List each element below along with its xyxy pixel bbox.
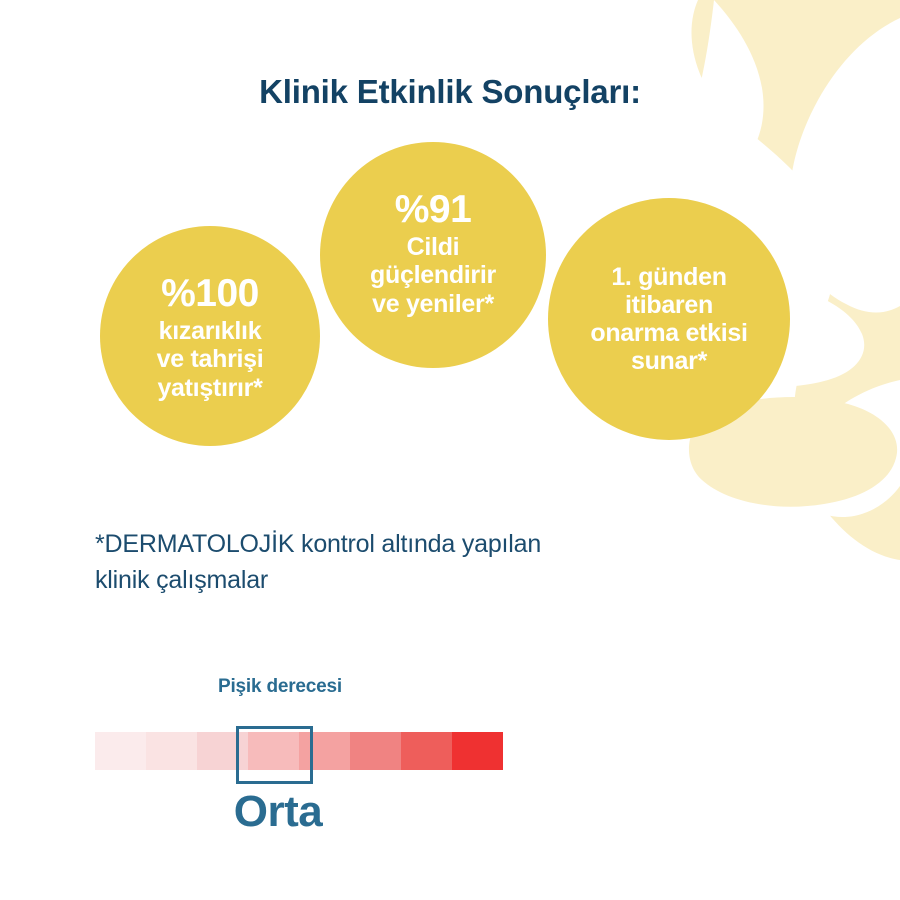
severity-scale-label: Pişik derecesi — [218, 676, 342, 698]
footnote-line-2: klinik çalışmalar — [95, 563, 755, 599]
claim-line: onarma etkisi — [590, 319, 747, 347]
claim-line: itibaren — [590, 291, 747, 319]
severity-scale-selection-marker[interactable] — [236, 726, 313, 784]
severity-scale-segment[interactable] — [95, 732, 146, 770]
claims-group: %100 kızarıklık ve tahrişi yatıştırır* %… — [0, 0, 900, 470]
claim-line: kızarıklık — [157, 317, 264, 346]
severity-scale-segment[interactable] — [452, 732, 503, 770]
claim-text: kızarıklık ve tahrişi yatıştırır* — [157, 317, 264, 403]
severity-scale-value: Orta — [0, 790, 556, 834]
claim-stat: %100 — [161, 274, 259, 315]
claim-line: 1. günden — [590, 263, 747, 291]
claim-stat: %91 — [395, 190, 472, 231]
claim-text: 1. günden itibaren onarma etkisi sunar* — [590, 263, 747, 375]
claim-circle-skin-strengthening: %91 Cildi güçlendirir ve yeniler* — [320, 142, 546, 368]
severity-scale-segment[interactable] — [146, 732, 197, 770]
claim-line: yatıştırır* — [157, 374, 264, 403]
claim-line: ve tahrişi — [157, 345, 264, 374]
severity-scale-segment[interactable] — [350, 732, 401, 770]
infographic-page: Klinik Etkinlik Sonuçları: %100 kızarıkl… — [0, 0, 900, 900]
severity-scale-segment[interactable] — [401, 732, 452, 770]
claim-text: Cildi güçlendirir ve yeniler* — [370, 233, 496, 319]
claim-line: Cildi — [370, 233, 496, 262]
claim-line: sunar* — [590, 347, 747, 375]
footnote: *DERMATOLOJİK kontrol altında yapılan kl… — [95, 527, 755, 598]
claim-line: güçlendirir — [370, 261, 496, 290]
footnote-line-1: *DERMATOLOJİK kontrol altında yapılan — [95, 527, 755, 563]
claim-circle-redness-soothing: %100 kızarıklık ve tahrişi yatıştırır* — [100, 226, 320, 446]
claim-line: ve yeniler* — [370, 290, 496, 319]
claim-circle-repair-from-day-one: 1. günden itibaren onarma etkisi sunar* — [548, 198, 790, 440]
